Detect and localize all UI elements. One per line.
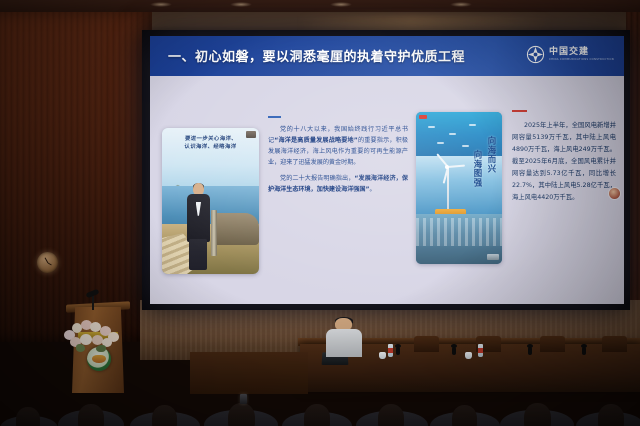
audience-head: [524, 403, 551, 426]
presentation-slide: 一、初心如磐，要以洞悉毫厘的执着守护优质工程 中国交建 CHINA COMMUN…: [150, 36, 624, 304]
ceiling-light: [150, 2, 172, 7]
center-p2-a: 党的二十大报告明确指出，: [280, 175, 354, 182]
phone-recording: [240, 394, 247, 404]
poster-vertical-slogan: 向海图强 向海而兴: [472, 136, 498, 188]
figure-legs: [189, 239, 207, 269]
photo-rock: [212, 213, 259, 245]
ceiling-light: [230, 2, 252, 7]
photo-stone-post: [211, 210, 217, 256]
flower-arrangement: [60, 318, 126, 352]
compass-emblem-icon: [526, 45, 545, 64]
photo-calligraphy-caption: 要进一步关心海洋、 认识海洋、经略海洋: [167, 135, 254, 152]
podium-mic-stand: [92, 296, 94, 310]
poster-slogan-column-1: 向海而兴: [486, 136, 498, 188]
audience-head: [152, 405, 177, 426]
chair: [540, 336, 565, 352]
poster-boat: [428, 126, 435, 128]
chair: [602, 336, 627, 352]
right-text-rule: [512, 110, 527, 112]
wall-clock: [37, 252, 58, 273]
audience-head: [304, 404, 330, 426]
table-microphone-icon: [528, 347, 532, 355]
poster-footer-badge-icon: [487, 254, 499, 260]
ceiling-light: [330, 2, 352, 7]
slide-title: 一、初心如磐，要以洞悉毫厘的执着守护优质工程: [168, 46, 465, 65]
table-microphone-icon: [582, 347, 586, 355]
center-paragraph-1: 党的十八大以来，我国始终践行习近平总书记“海洋是高质量发展战略要地”的重要指示，…: [268, 124, 408, 168]
teacup: [379, 352, 386, 359]
center-p1-quote: “海洋是高质量发展战略要地”: [274, 137, 358, 144]
center-text-rule: [268, 116, 281, 118]
avatar: [609, 188, 620, 199]
center-paragraph-2: 党的二十大报告明确指出，“发展海洋经济，保护海洋生态环境，加快建设海洋强国”。: [268, 173, 408, 195]
poster-boat: [469, 124, 476, 126]
speaker-shirt: [326, 329, 362, 356]
offshore-wind-poster: 向海图强 向海而兴: [416, 112, 502, 264]
brand-name-cn: 中国交建: [549, 48, 614, 57]
poster-red-tag-icon: [419, 115, 427, 119]
audience-head: [598, 404, 624, 426]
brand-name-en: CHINA COMMUNICATIONS CONSTRUCTION: [549, 59, 614, 62]
water-bottle: [478, 344, 483, 357]
audience: [0, 360, 640, 426]
figure-shirt: [196, 202, 202, 216]
photo-figure: [185, 183, 211, 268]
caption-line-2: 认识海洋、经略海洋: [167, 144, 253, 152]
teacup: [465, 352, 472, 359]
wood-panel-wall-left: [0, 12, 152, 342]
right-text-block: 2025年上半年，全国风电新增并网容量5139万千瓦，其中陆上风电4890万千瓦…: [512, 120, 616, 205]
center-text-block: 党的十八大以来，我国始终践行习近平总书记“海洋是高质量发展战略要地”的重要指示，…: [268, 124, 408, 200]
poster-boat: [449, 133, 456, 135]
table-microphone-icon: [396, 347, 400, 355]
ceiling-light: [450, 2, 472, 7]
audience-head: [16, 407, 40, 426]
figure-suit: [187, 194, 210, 241]
audience-head: [228, 403, 255, 426]
audience-head: [78, 404, 104, 426]
photo-corner-badge-icon: [246, 131, 256, 138]
right-paragraph: 2025年上半年，全国风电新增并网容量5139万千瓦，其中陆上风电4890万千瓦…: [512, 120, 616, 205]
presentation-room-photo: 一、初心如磐，要以洞悉毫厘的执着守护优质工程 中国交建 CHINA COMMUN…: [0, 0, 640, 426]
speaker-person: [326, 318, 362, 356]
audience-head: [452, 405, 477, 426]
audience-head: [378, 404, 404, 426]
poster-dock-ships: [416, 218, 502, 245]
center-p2-b: 。: [370, 186, 376, 193]
left-photo-card: 要进一步关心海洋、 认识海洋、经略海洋: [162, 128, 259, 274]
leaf: [76, 344, 85, 352]
poster-slogan-column-2: 向海图强: [472, 150, 484, 188]
table-microphone-icon: [452, 347, 456, 355]
water-bottle: [388, 344, 393, 357]
brand-logo: 中国交建 CHINA COMMUNICATIONS CONSTRUCTION: [526, 45, 614, 64]
leaf: [96, 345, 106, 352]
chair: [414, 336, 439, 352]
